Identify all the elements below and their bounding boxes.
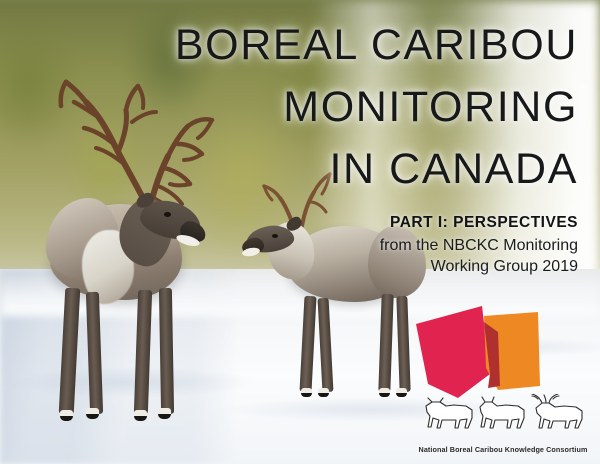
bull-hoof (158, 408, 171, 419)
cow-leg (299, 296, 316, 392)
cow-leg (378, 294, 393, 392)
subtitle-part-label: PART I: PERSPECTIVES (178, 214, 578, 232)
title-line-1: BOREAL CARIBOU (148, 14, 578, 76)
bull-hoof (86, 408, 99, 419)
subtitle-line-3: Working Group 2019 (178, 256, 578, 277)
cow-hoof (396, 388, 407, 397)
report-cover: BOREAL CARIBOU MONITORING IN CANADA PART… (0, 0, 600, 464)
logo-caption: National Boreal Caribou Knowledge Consor… (414, 445, 592, 454)
bull-leg (159, 288, 174, 414)
caribou-icon (426, 398, 472, 428)
logo-marks (414, 302, 592, 402)
bull-leg (134, 290, 152, 414)
cow-hoof (379, 388, 390, 397)
title-line-3: IN CANADA (148, 138, 578, 200)
cow-hoof (301, 388, 312, 397)
cow-leg (318, 298, 334, 392)
cow-hoof (318, 388, 329, 397)
bull-leg (59, 288, 81, 415)
caribou-antlered-icon (532, 394, 582, 428)
subtitle-line-2: from the NBCKC Monitoring (178, 235, 578, 256)
caribou-icon (480, 397, 524, 428)
cover-title: BOREAL CARIBOU MONITORING IN CANADA (148, 14, 578, 200)
cow-leg (396, 296, 410, 392)
title-line-2: MONITORING (148, 76, 578, 138)
logo-caribou-group (420, 394, 588, 434)
logo-shape-crimson-icon (416, 306, 490, 398)
bull-hoof (60, 410, 73, 421)
cover-subtitle: PART I: PERSPECTIVES from the NBCKC Moni… (178, 214, 578, 277)
bull-leg (86, 292, 103, 414)
nbckc-logo: National Boreal Caribou Knowledge Consor… (414, 302, 592, 452)
bull-hoof (134, 410, 147, 421)
bull-eye (164, 212, 171, 217)
